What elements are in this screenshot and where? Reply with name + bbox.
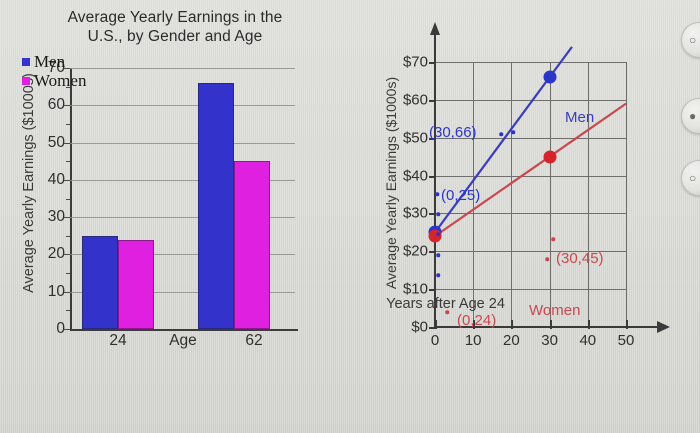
leader-dot bbox=[436, 232, 440, 236]
bar-chart-title-line1: Average Yearly Earnings in the bbox=[30, 8, 320, 27]
y-minor-tick-mark bbox=[66, 310, 70, 311]
x-tick-label: 20 bbox=[503, 332, 520, 349]
series-label-men: Men bbox=[565, 109, 594, 126]
line-chart-y-axis-label: Average Yearly Earnings ($1000s) bbox=[383, 58, 399, 308]
leader-dot bbox=[436, 273, 440, 277]
leader-dot bbox=[511, 130, 515, 134]
bar-women-24 bbox=[118, 240, 154, 329]
legend-swatch-women bbox=[22, 77, 30, 85]
y-tick-mark bbox=[64, 143, 70, 144]
y-tick-label: 50 bbox=[48, 134, 65, 152]
data-point-women-30-45 bbox=[543, 150, 556, 163]
y-minor-tick-mark bbox=[66, 199, 70, 200]
legend-item-women: Women bbox=[22, 71, 86, 90]
x-tick-label: 30 bbox=[541, 332, 558, 349]
data-point-women-0-24 bbox=[429, 230, 442, 243]
leader-dot bbox=[435, 192, 439, 196]
leader-dot bbox=[551, 237, 555, 241]
y-tick-label: $60 bbox=[403, 91, 428, 108]
line-chart: Average Yearly Earnings ($1000s) $70$60$… bbox=[350, 0, 700, 400]
y-tick-mark bbox=[64, 254, 70, 255]
annotation-3045: (30,45) bbox=[556, 250, 604, 267]
data-point-men-30-66 bbox=[543, 71, 556, 84]
x-tick-label: 10 bbox=[465, 332, 482, 349]
y-tick-label: $20 bbox=[403, 243, 428, 260]
bar-women-62 bbox=[234, 161, 270, 329]
line-chart-plot-area: $70$60$50$40$30$20$10$0 01020304050 (30,… bbox=[435, 62, 626, 327]
annotation-024: (0,24) bbox=[457, 312, 496, 329]
x-tick-label: 0 bbox=[431, 332, 439, 349]
gridline bbox=[70, 143, 295, 144]
y-tick-label: $50 bbox=[403, 129, 428, 146]
y-tick-mark bbox=[64, 105, 70, 106]
line-chart-x-axis-label: Years after Age 24 bbox=[338, 296, 553, 312]
y-tick-label: 10 bbox=[48, 283, 65, 301]
legend-label-women: Women bbox=[34, 71, 86, 90]
leader-dot bbox=[499, 132, 503, 136]
leader-dot bbox=[545, 257, 549, 261]
legend-label-men: Men bbox=[34, 52, 65, 71]
gridline bbox=[70, 105, 295, 106]
y-tick-mark bbox=[64, 292, 70, 293]
bar-chart-y-axis bbox=[70, 68, 72, 330]
bar-chart: Average Yearly Earnings in the U.S., by … bbox=[0, 0, 340, 400]
legend-swatch-men bbox=[22, 58, 30, 66]
y-axis-arrow-icon bbox=[430, 22, 440, 35]
gridline-vertical bbox=[626, 62, 627, 327]
leader-dot bbox=[436, 212, 440, 216]
y-tick-label: $70 bbox=[403, 54, 428, 71]
bar-chart-title: Average Yearly Earnings in the U.S., by … bbox=[30, 8, 320, 46]
annotation-3066: (30,66) bbox=[429, 124, 477, 141]
legend-item-men: Men bbox=[22, 52, 86, 71]
bar-men-24 bbox=[82, 236, 118, 329]
y-tick-label: 30 bbox=[48, 208, 65, 226]
x-axis-arrow-icon bbox=[657, 321, 670, 333]
y-minor-tick-mark bbox=[66, 161, 70, 162]
y-tick-mark bbox=[64, 180, 70, 181]
bar-men-62 bbox=[198, 83, 234, 329]
annotation-025: (0,25) bbox=[441, 187, 480, 204]
x-tick-label: 24 bbox=[109, 332, 126, 350]
y-minor-tick-mark bbox=[66, 236, 70, 237]
gridline bbox=[70, 68, 295, 69]
bar-chart-y-axis-label: Average Yearly Earnings ($1000s) bbox=[21, 58, 37, 308]
filled-circle-icon: ● bbox=[689, 109, 696, 123]
y-minor-tick-mark bbox=[66, 273, 70, 274]
y-tick-label: $0 bbox=[411, 319, 428, 336]
circle-icon: ○ bbox=[689, 33, 696, 47]
bar-chart-legend: Men Women bbox=[22, 52, 86, 90]
y-tick-mark bbox=[64, 217, 70, 218]
bar-chart-x-axis-title: Age bbox=[169, 332, 197, 350]
x-tick-label: 50 bbox=[618, 332, 635, 349]
y-tick-label: 20 bbox=[48, 245, 65, 263]
bar-chart-title-line2: U.S., by Gender and Age bbox=[30, 27, 320, 46]
x-tick-mark bbox=[626, 320, 628, 329]
leader-dot bbox=[436, 253, 440, 257]
y-tick-label: 60 bbox=[48, 96, 65, 114]
circle-icon: ○ bbox=[689, 171, 696, 185]
y-tick-label: $30 bbox=[403, 205, 428, 222]
x-tick-label: 40 bbox=[579, 332, 596, 349]
x-tick-label: 62 bbox=[245, 332, 262, 350]
bar-chart-x-axis bbox=[70, 329, 298, 331]
y-tick-label: 40 bbox=[48, 171, 65, 189]
y-minor-tick-mark bbox=[66, 124, 70, 125]
y-tick-mark bbox=[64, 329, 70, 330]
bar-chart-plot-area: 706050403020100 24Age62 bbox=[70, 68, 295, 329]
y-tick-label: $40 bbox=[403, 167, 428, 184]
